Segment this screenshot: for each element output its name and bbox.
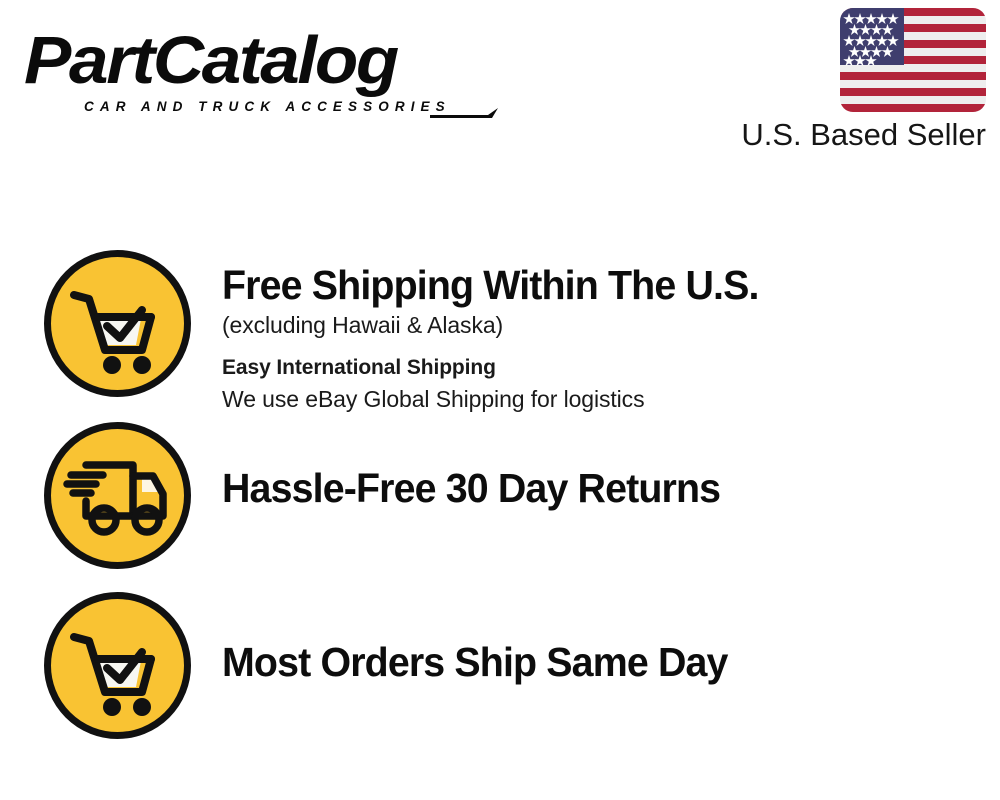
brand-wordmark: PartCatalog	[24, 26, 397, 96]
feature-row: Hassle-Free 30 Day Returns	[0, 417, 1000, 589]
feature-subtitle-international: Easy International Shipping	[222, 353, 982, 383]
us-flag-icon	[840, 8, 986, 112]
banner-header: PartCatalog CAR AND TRUCK ACCESSORIES	[0, 0, 1000, 170]
brand-tagline: CAR AND TRUCK ACCESSORIES	[84, 99, 451, 114]
feature-subtitle-logistics: We use eBay Global Shipping for logistic…	[222, 383, 982, 415]
brand-logo: PartCatalog CAR AND TRUCK ACCESSORIES	[24, 26, 494, 118]
shopping-cart-check-icon	[41, 589, 194, 742]
shopping-cart-check-icon	[41, 247, 194, 400]
feature-text-block: Most Orders Ship Same Day	[222, 638, 982, 686]
delivery-truck-icon	[41, 419, 194, 572]
feature-title: Most Orders Ship Same Day	[222, 638, 952, 686]
feature-subtitle-exclusion: (excluding Hawaii & Alaska)	[222, 309, 982, 341]
feature-title: Hassle-Free 30 Day Returns	[222, 464, 952, 512]
us-based-seller-label: U.S. Based Seller	[741, 116, 986, 154]
swoosh-underline-icon	[428, 106, 500, 120]
feature-text-block: Hassle-Free 30 Day Returns	[222, 464, 982, 512]
feature-list: Free Shipping Within The U.S. (excluding…	[0, 170, 1000, 800]
feature-row: Most Orders Ship Same Day	[0, 589, 1000, 761]
feature-title: Free Shipping Within The U.S.	[222, 261, 952, 309]
feature-text-block: Free Shipping Within The U.S. (excluding…	[222, 261, 982, 415]
feature-row: Free Shipping Within The U.S. (excluding…	[0, 247, 1000, 417]
